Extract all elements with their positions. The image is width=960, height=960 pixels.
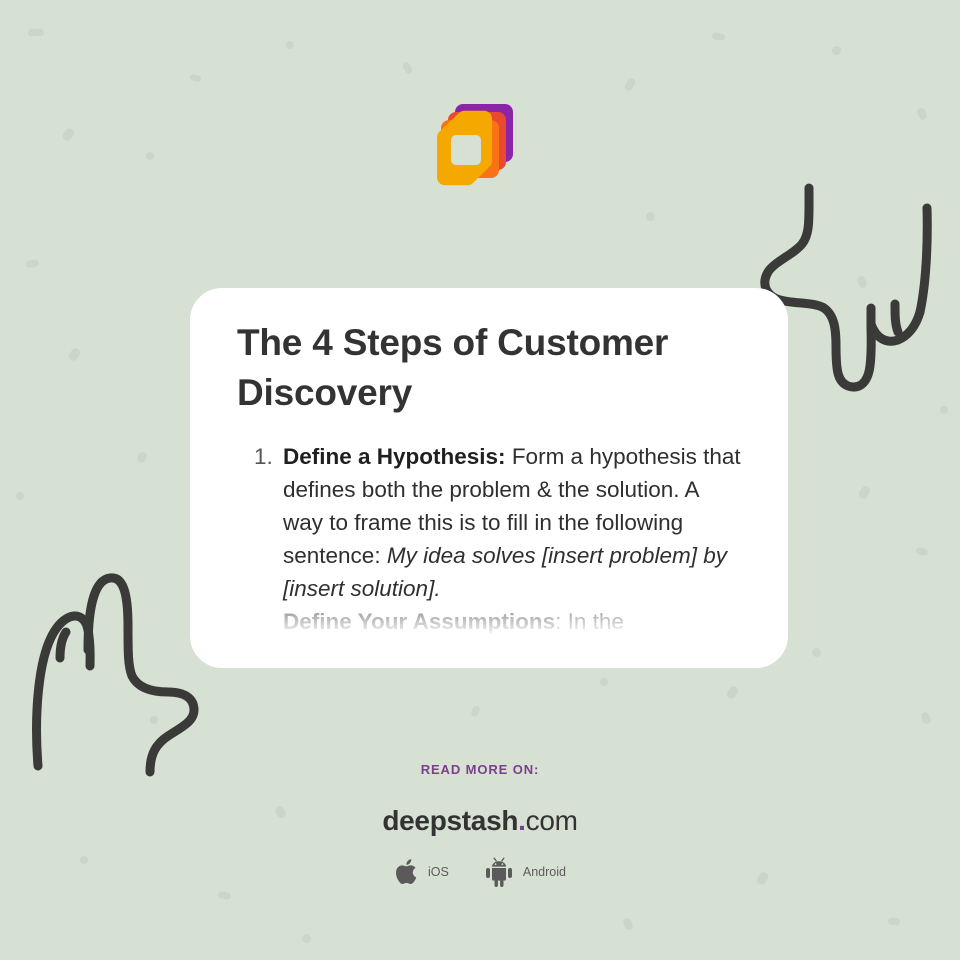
wordmark-name: deepstash bbox=[382, 805, 518, 836]
store-badges: iOS Android bbox=[0, 857, 960, 887]
deepstash-wordmark[interactable]: deepstash.com bbox=[0, 805, 960, 837]
confetti-speck bbox=[150, 716, 158, 724]
confetti-speck bbox=[646, 212, 655, 221]
steps-list: Define a Hypothesis: Form a hypothesis t… bbox=[237, 440, 744, 638]
confetti-speck bbox=[940, 406, 948, 414]
deepstash-logo bbox=[429, 104, 515, 196]
confetti-speck bbox=[28, 29, 44, 37]
confetti-speck bbox=[916, 107, 928, 121]
confetti-speck bbox=[67, 347, 82, 363]
confetti-speck bbox=[600, 678, 608, 686]
poster-canvas: The 4 Steps of Customer Discovery Define… bbox=[0, 0, 960, 960]
confetti-speck bbox=[16, 492, 24, 500]
step-item: Define Your Assumptions: In the bbox=[279, 605, 744, 638]
confetti-speck bbox=[622, 917, 634, 931]
confetti-speck bbox=[712, 32, 726, 41]
confetti-speck bbox=[470, 705, 480, 718]
confetti-speck bbox=[888, 917, 901, 925]
wordmark-dot: . bbox=[518, 805, 525, 836]
step-body: : In the bbox=[555, 609, 624, 634]
confetti-speck bbox=[189, 74, 201, 83]
idea-card: The 4 Steps of Customer Discovery Define… bbox=[190, 288, 788, 668]
confetti-speck bbox=[286, 41, 294, 49]
confetti-speck bbox=[725, 685, 740, 701]
confetti-speck bbox=[61, 127, 76, 143]
confetti-speck bbox=[401, 61, 413, 75]
step-tail: . bbox=[434, 576, 440, 601]
confetti-speck bbox=[915, 547, 928, 556]
confetti-speck bbox=[857, 485, 872, 501]
page-title: The 4 Steps of Customer Discovery bbox=[237, 318, 744, 418]
apple-icon bbox=[394, 857, 420, 887]
step-lead: Define Your Assumptions bbox=[283, 609, 555, 634]
wordmark-tld: com bbox=[526, 805, 578, 836]
confetti-speck bbox=[623, 77, 636, 92]
android-store-badge[interactable]: Android bbox=[483, 857, 566, 887]
android-label: Android bbox=[523, 865, 566, 879]
confetti-speck bbox=[920, 711, 932, 725]
read-more-label: READ MORE ON: bbox=[0, 762, 960, 777]
step-lead: Define a Hypothesis: bbox=[283, 444, 506, 469]
step-item: Define a Hypothesis: Form a hypothesis t… bbox=[279, 440, 744, 605]
pointing-hand-doodle-left bbox=[26, 566, 216, 781]
ios-label: iOS bbox=[428, 865, 449, 879]
android-icon bbox=[483, 857, 515, 887]
confetti-speck bbox=[146, 152, 154, 160]
confetti-speck bbox=[136, 451, 148, 464]
confetti-speck bbox=[831, 45, 843, 57]
confetti-speck bbox=[25, 259, 39, 268]
confetti-speck bbox=[302, 934, 311, 943]
ios-store-badge[interactable]: iOS bbox=[394, 857, 449, 887]
confetti-speck bbox=[217, 891, 231, 900]
logo-center-hole bbox=[451, 135, 481, 165]
confetti-speck bbox=[812, 648, 821, 657]
confetti-speck bbox=[856, 275, 869, 289]
footer: READ MORE ON: deepstash.com iOS bbox=[0, 762, 960, 887]
